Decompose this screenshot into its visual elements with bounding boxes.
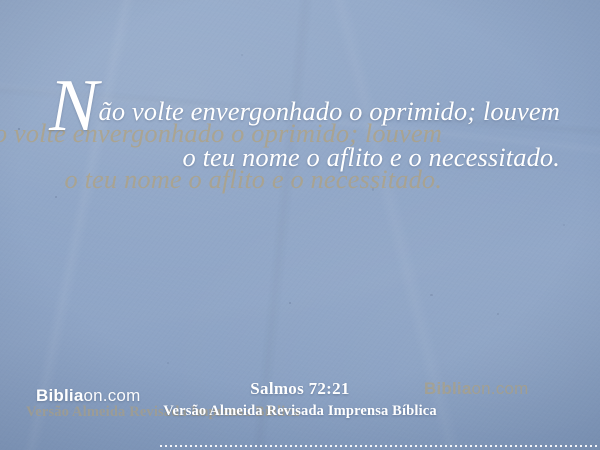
verse-reference-block: Salmos 72:21 Versão Almeida Revisada Imp… — [150, 379, 450, 420]
logo-ghost-light: on.com — [472, 379, 529, 398]
dotted-divider — [160, 445, 600, 447]
logo-light-text: on.com — [84, 386, 141, 405]
verse-reference: Salmos 72:21 — [150, 379, 450, 399]
verse-body: ão volte envergonhado o oprimido; louvem… — [98, 96, 560, 172]
verse-dropcap: N — [49, 65, 98, 147]
verse-text: Não volte envergonhado o oprimido; louve… — [40, 84, 560, 180]
verse-image-canvas: Não volte envergonhado o oprimido; louve… — [0, 0, 600, 450]
bible-version-label: Versão Almeida Revisada Imprensa Bíblica — [150, 403, 450, 420]
logo-bold-text: Biblia — [36, 386, 84, 405]
site-logo[interactable]: Bibliaon.com — [36, 386, 140, 406]
